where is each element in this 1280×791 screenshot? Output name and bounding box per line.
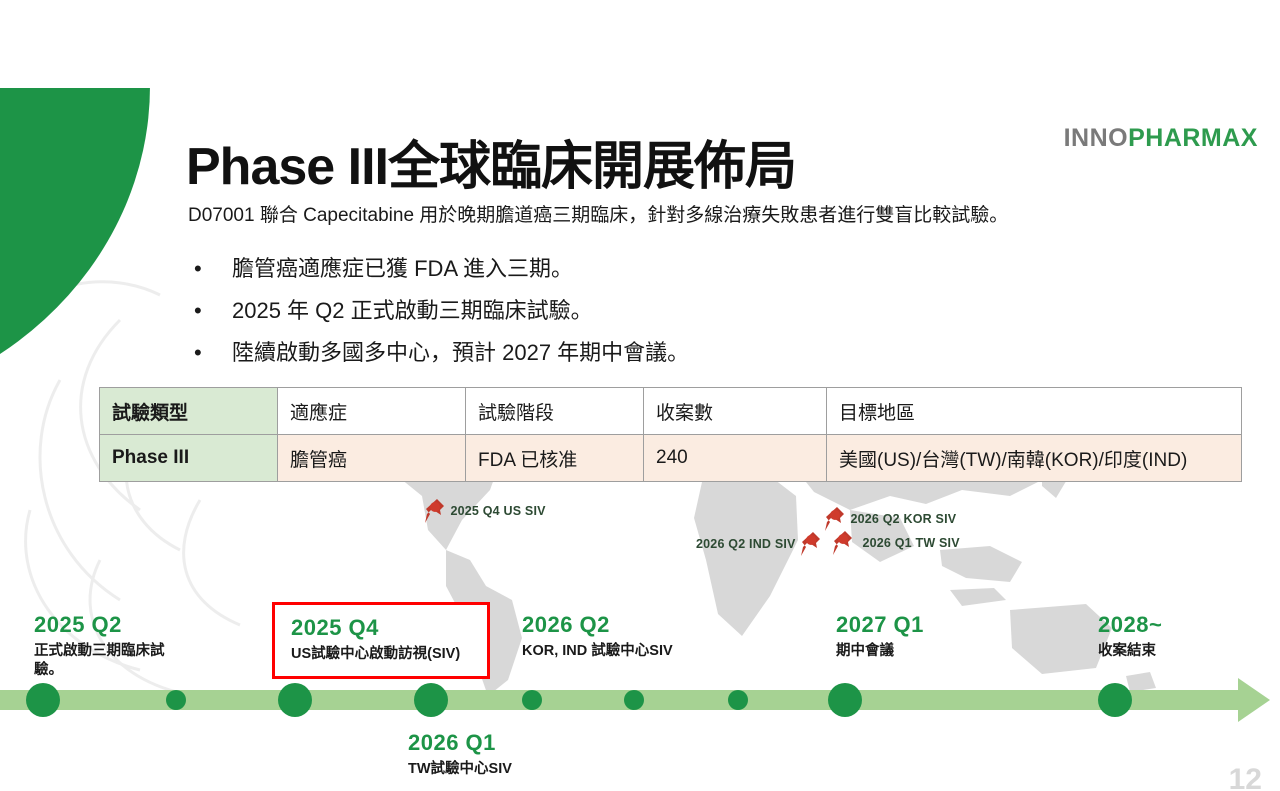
timeline-description: 收案結束 (1098, 642, 1258, 661)
map-pin-kor: 2026 Q2 KOR SIV (824, 506, 956, 532)
timeline-description: TW試驗中心SIV (408, 760, 608, 779)
pushpin-icon (824, 506, 846, 532)
map-pin-label: 2026 Q2 IND SIV (696, 537, 796, 551)
map-pin-tw: 2026 Q1 TW SIV (832, 530, 960, 556)
timeline-period: 2025 Q4 (291, 615, 473, 641)
timeline-item-2025q4[interactable]: 2025 Q4 US試驗中心啟動訪視(SIV) (272, 602, 490, 679)
bullet-item: 2025 年 Q2 正式啟動三期臨床試驗。 (190, 290, 689, 332)
table-cell: 膽管癌 (278, 435, 466, 482)
timeline-item-2027q1: 2027 Q1 期中會議 (836, 612, 996, 661)
slide-root: INNOPHARMAX Phase III全球臨床開展佈局 D07001 聯合 … (0, 0, 1280, 791)
timeline-period: 2026 Q2 (522, 612, 732, 638)
timeline-description: 正式啟動三期臨床試驗。 (34, 642, 174, 680)
table-cell: 240 (644, 435, 827, 482)
timeline-description: KOR, IND 試驗中心SIV (522, 642, 732, 661)
pushpin-icon (800, 531, 822, 557)
table-cell: FDA 已核准 (466, 435, 644, 482)
timeline-dot (278, 683, 312, 717)
table-header-cell: 適應症 (278, 388, 466, 435)
timeline-period: 2028~ (1098, 612, 1258, 638)
timeline-period: 2026 Q1 (408, 730, 608, 756)
bullet-list: 膽管癌適應症已獲 FDA 進入三期。 2025 年 Q2 正式啟動三期臨床試驗。… (190, 248, 689, 374)
map-pin-ind: 2026 Q2 IND SIV (696, 531, 822, 557)
table-header-cell: 試驗階段 (466, 388, 644, 435)
table-header-cell: 收案數 (644, 388, 827, 435)
bullet-item: 膽管癌適應症已獲 FDA 進入三期。 (190, 248, 689, 290)
table-header-cell: 目標地區 (827, 388, 1242, 435)
timeline-dot (624, 690, 644, 710)
timeline-item-2026q2: 2026 Q2 KOR, IND 試驗中心SIV (522, 612, 732, 661)
table-cell: 美國(US)/台灣(TW)/南韓(KOR)/印度(IND) (827, 435, 1242, 482)
map-pin-label: 2026 Q2 KOR SIV (850, 512, 956, 526)
timeline-dot (414, 683, 448, 717)
timeline-period: 2025 Q2 (34, 612, 214, 638)
timeline-item-2026q1: 2026 Q1 TW試驗中心SIV (408, 730, 608, 779)
map-pin-label: 2025 Q4 US SIV (450, 504, 545, 518)
top-white-band (0, 0, 1280, 88)
timeline-dot (828, 683, 862, 717)
timeline-dot (1098, 683, 1132, 717)
timeline-description: US試驗中心啟動訪視(SIV) (291, 645, 473, 664)
map-pin-label: 2026 Q1 TW SIV (862, 536, 959, 550)
timeline-arrowhead (1238, 678, 1270, 722)
timeline-dot (728, 690, 748, 710)
pushpin-icon (424, 498, 446, 524)
timeline-dot (166, 690, 186, 710)
timeline-description: 期中會議 (836, 642, 996, 661)
timeline-dot (522, 690, 542, 710)
timeline-item-2028: 2028~ 收案結束 (1098, 612, 1258, 661)
table-header-cell: 試驗類型 (100, 388, 278, 435)
timeline-period: 2027 Q1 (836, 612, 996, 638)
trial-summary-table: 試驗類型 適應症 試驗階段 收案數 目標地區 Phase III 膽管癌 FDA… (99, 387, 1242, 482)
company-logo: INNOPHARMAX (1064, 124, 1258, 153)
bullet-item: 陸續啟動多國多中心，預計 2027 年期中會議。 (190, 332, 689, 374)
table-header-row: 試驗類型 適應症 試驗階段 收案數 目標地區 (100, 388, 1242, 435)
timeline-dot (26, 683, 60, 717)
page-number: 12 (1229, 763, 1262, 791)
logo-inno-text: INNO (1064, 124, 1129, 152)
map-pin-us: 2025 Q4 US SIV (424, 498, 546, 524)
timeline-item-2025q2: 2025 Q2 正式啟動三期臨床試驗。 (34, 612, 214, 680)
logo-pharmax-text: PHARMAX (1128, 124, 1258, 152)
page-title: Phase III全球臨床開展佈局 (186, 124, 796, 199)
table-row: Phase III 膽管癌 FDA 已核准 240 美國(US)/台灣(TW)/… (100, 435, 1242, 482)
page-subtitle: D07001 聯合 Capecitabine 用於晚期膽道癌三期臨床，針對多線治… (188, 200, 1008, 227)
timeline-bar (0, 690, 1240, 710)
pushpin-icon (832, 530, 854, 556)
table-cell: Phase III (100, 435, 278, 482)
